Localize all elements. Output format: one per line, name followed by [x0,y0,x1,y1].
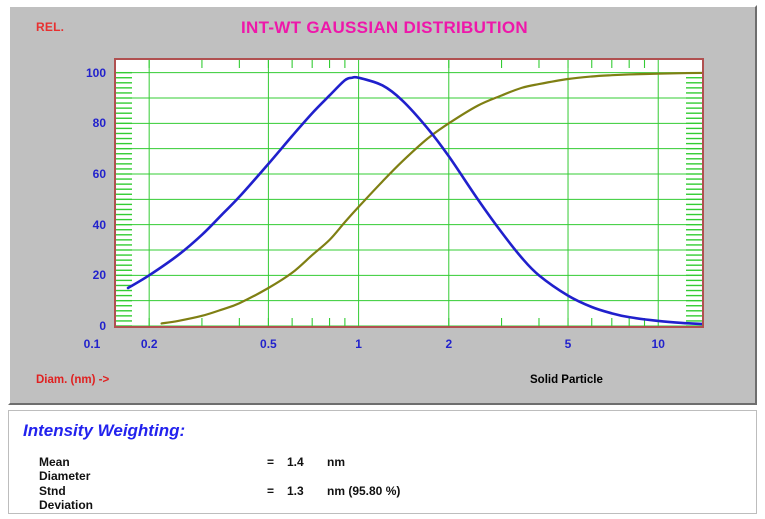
cumulative-curve [162,73,702,324]
y-tick-label: 100 [62,66,106,80]
vertical-gridlines [149,60,658,326]
plot-area [114,58,704,328]
x-tick-label: 5 [548,337,588,351]
results-title: Intensity Weighting: [23,421,185,441]
results-panel: Intensity Weighting: Mean Diameter=1.4nm… [8,410,757,514]
result-label: Stnd Deviation [39,484,93,512]
x-tick-label: 10 [638,337,678,351]
x-tick-label: 0.2 [129,337,169,351]
horizontal-gridlines [116,73,702,326]
distribution-curve [128,77,702,324]
chart-title: INT-WT GAUSSIAN DISTRIBUTION [10,18,759,38]
plot-svg [116,60,702,326]
result-equals: = [267,455,274,469]
application-window: REL. INT-WT GAUSSIAN DISTRIBUTION 100806… [0,0,765,519]
x-tick-label: 0.1 [72,337,112,351]
graph-panel: REL. INT-WT GAUSSIAN DISTRIBUTION 100806… [8,5,757,405]
x-axis-label: Diam. (nm) -> [36,374,109,386]
sample-label: Solid Particle [530,374,603,386]
result-value: 1.4 [287,455,304,469]
x-tick-label: 2 [429,337,469,351]
y-tick-label: 0 [62,319,106,333]
y-tick-label: 40 [62,218,106,232]
x-tick-label: 1 [339,337,379,351]
result-label: Mean Diameter [39,455,90,483]
y-tick-label: 60 [62,167,106,181]
minor-ticks [116,60,702,326]
result-unit: nm (95.80 %) [327,484,400,498]
result-unit: nm [327,455,345,469]
result-value: 1.3 [287,484,304,498]
y-tick-label: 20 [62,268,106,282]
result-equals: = [267,484,274,498]
x-tick-label: 0.5 [248,337,288,351]
y-tick-label: 80 [62,116,106,130]
